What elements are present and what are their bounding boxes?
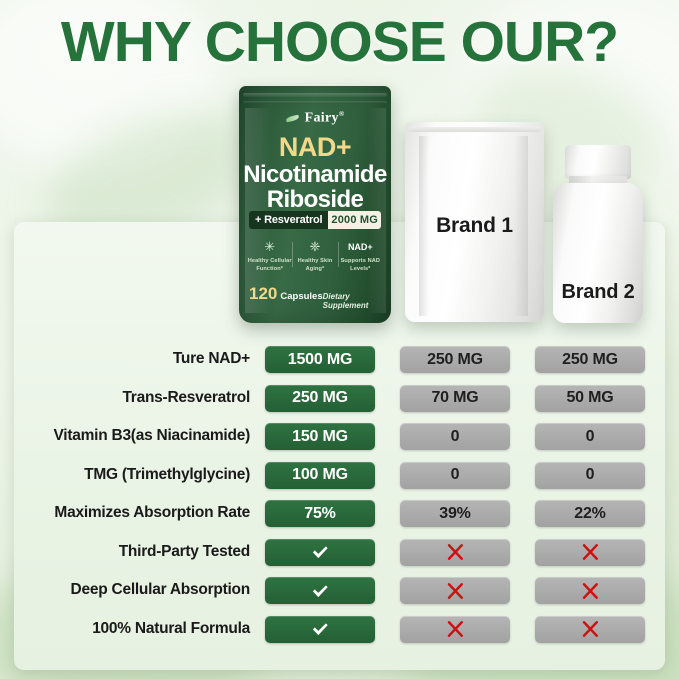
row-label: Maximizes Absorption Rate xyxy=(8,494,250,533)
cell-brand-2: 22% xyxy=(535,500,645,527)
cross-icon xyxy=(581,543,599,561)
leaf-icon xyxy=(286,114,302,123)
check-icon xyxy=(310,619,330,639)
cell-brand-1: 0 xyxy=(400,423,510,450)
benefit-item: ✳ Healthy Cellular Function* xyxy=(247,238,292,273)
skin-cells-icon: ❈ xyxy=(292,238,337,255)
cross-icon xyxy=(446,582,464,600)
cell-ours xyxy=(265,616,375,643)
comparison-table: Ture NAD+1500 MG250 MG250 MGTrans-Resver… xyxy=(0,340,679,648)
cell-brand-2: 0 xyxy=(535,423,645,450)
cellular-network-icon: ✳ xyxy=(247,238,292,255)
cross-icon xyxy=(581,582,599,600)
cell-brand-2: 0 xyxy=(535,462,645,489)
benefit-text: Supports NAD Levels* xyxy=(338,258,383,273)
cell-brand-1 xyxy=(400,577,510,604)
benefit-text-line-2: Levels* xyxy=(338,266,383,274)
benefit-text-line-1: Healthy Cellular xyxy=(247,258,292,266)
benefit-item: ❈ Healthy Skin Aging* xyxy=(292,238,337,273)
resveratrol-amount: 2000 MG xyxy=(328,211,381,229)
cell-brand-2: 50 MG xyxy=(535,385,645,412)
cell-ours xyxy=(265,539,375,566)
product-name: Nicotinamide Riboside xyxy=(239,162,391,213)
check-icon xyxy=(310,581,330,601)
capsule-count-unit: Capsules xyxy=(280,291,322,302)
table-row: Maximizes Absorption Rate75%39%22% xyxy=(0,494,679,533)
infographic-canvas: WHY CHOOSE OUR? Fairy® NAD+ Nicotinamide… xyxy=(0,0,679,679)
brand-1-label: Brand 1 xyxy=(405,214,544,238)
cell-ours: 150 MG xyxy=(265,423,375,450)
pouch-zipper-icon xyxy=(243,93,387,97)
resveratrol-label: + Resveratrol xyxy=(249,211,328,229)
row-label: Vitamin B3(as Niacinamide) xyxy=(8,417,250,456)
benefit-item: NAD+ Supports NAD Levels* xyxy=(338,238,383,273)
table-row: 100% Natural Formula xyxy=(0,610,679,649)
capsule-count-number: 120 xyxy=(249,284,277,303)
supplement-note: Dietary Supplement xyxy=(323,292,381,310)
cross-icon xyxy=(446,543,464,561)
table-row: Trans-Resveratrol250 MG70 MG50 MG xyxy=(0,379,679,418)
resveratrol-badge: + Resveratrol 2000 MG xyxy=(249,211,381,229)
pouch-seal-icon xyxy=(243,101,387,104)
brand-2-label: Brand 2 xyxy=(553,281,643,304)
row-label: Deep Cellular Absorption xyxy=(8,571,250,610)
table-row: Third-Party Tested xyxy=(0,533,679,572)
cell-brand-1: 70 MG xyxy=(400,385,510,412)
cell-brand-1: 39% xyxy=(400,500,510,527)
our-product-pouch: Fairy® NAD+ Nicotinamide Riboside + Resv… xyxy=(239,86,391,323)
benefit-icons-row: ✳ Healthy Cellular Function* ❈ Healthy S… xyxy=(247,238,383,286)
cell-brand-2 xyxy=(535,577,645,604)
row-label: 100% Natural Formula xyxy=(8,610,250,649)
benefit-text: Healthy Skin Aging* xyxy=(292,258,337,273)
row-label: Ture NAD+ xyxy=(8,340,250,379)
pouch-footer: 120Capsules Dietary Supplement xyxy=(249,284,381,310)
cell-ours xyxy=(265,577,375,604)
cross-icon xyxy=(446,620,464,638)
table-row: Ture NAD+1500 MG250 MG250 MG xyxy=(0,340,679,379)
cell-brand-2: 250 MG xyxy=(535,346,645,373)
cell-ours: 75% xyxy=(265,500,375,527)
benefit-text-line-2: Function* xyxy=(247,266,292,274)
cell-brand-2 xyxy=(535,539,645,566)
cell-ours: 250 MG xyxy=(265,385,375,412)
nad-text-icon: NAD+ xyxy=(338,238,383,255)
benefit-text-line-2: Aging* xyxy=(292,266,337,274)
row-label: TMG (Trimethylglycine) xyxy=(8,456,250,495)
pouch-zipper-icon xyxy=(408,127,541,132)
cell-brand-1 xyxy=(400,539,510,566)
bottle-cap xyxy=(565,145,631,179)
cell-brand-1: 0 xyxy=(400,462,510,489)
product-name-line-1: Nicotinamide xyxy=(239,162,391,187)
cell-ours: 1500 MG xyxy=(265,346,375,373)
cell-brand-2 xyxy=(535,616,645,643)
bottle-body: Brand 2 xyxy=(553,183,643,323)
brand-logo: Fairy® xyxy=(239,110,391,127)
cell-brand-1 xyxy=(400,616,510,643)
cross-icon xyxy=(581,620,599,638)
row-label: Trans-Resveratrol xyxy=(8,379,250,418)
capsule-count: 120Capsules xyxy=(249,284,323,304)
product-headline: NAD+ xyxy=(239,134,391,161)
product-name-line-2: Riboside xyxy=(239,187,391,212)
benefit-text-line-1: Healthy Skin xyxy=(292,258,337,266)
brand-name: Fairy xyxy=(305,111,339,126)
cell-brand-1: 250 MG xyxy=(400,346,510,373)
table-row: Deep Cellular Absorption xyxy=(0,571,679,610)
brand-1-pouch: Brand 1 xyxy=(405,122,544,322)
check-icon xyxy=(310,542,330,562)
table-row: Vitamin B3(as Niacinamide)150 MG00 xyxy=(0,417,679,456)
registered-mark: ® xyxy=(339,110,345,118)
brand-2-bottle: Brand 2 xyxy=(553,145,643,323)
row-label: Third-Party Tested xyxy=(8,533,250,572)
benefit-text: Healthy Cellular Function* xyxy=(247,258,292,273)
cell-ours: 100 MG xyxy=(265,462,375,489)
table-row: TMG (Trimethylglycine)100 MG00 xyxy=(0,456,679,495)
benefit-text-line-1: Supports NAD xyxy=(338,258,383,266)
product-lineup: Fairy® NAD+ Nicotinamide Riboside + Resv… xyxy=(0,0,679,340)
